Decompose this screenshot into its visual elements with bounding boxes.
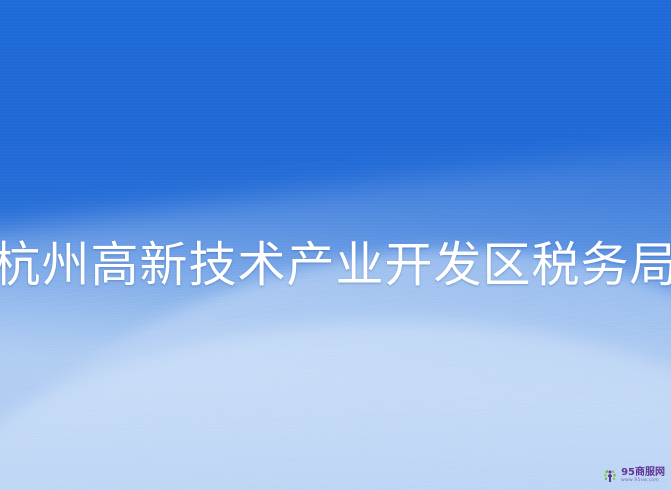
page-title: 杭州高新技术产业开发区税务局 — [0, 241, 671, 289]
watermark-site-name: 95商服网 — [621, 468, 665, 478]
watermark-site-url: www.95sw.com — [621, 479, 665, 484]
banner-title-row: 杭州高新技术产业开发区税务局 — [0, 236, 671, 294]
watermark-text-block: 95商服网 www.95sw.com — [621, 468, 665, 484]
watermark: 95商服网 www.95sw.com — [602, 468, 665, 484]
person-leaves-logo-icon — [602, 468, 618, 484]
tax-bureau-banner: 杭州高新技术产业开发区税务局 95商服网 www.95sw.com — [0, 0, 671, 490]
